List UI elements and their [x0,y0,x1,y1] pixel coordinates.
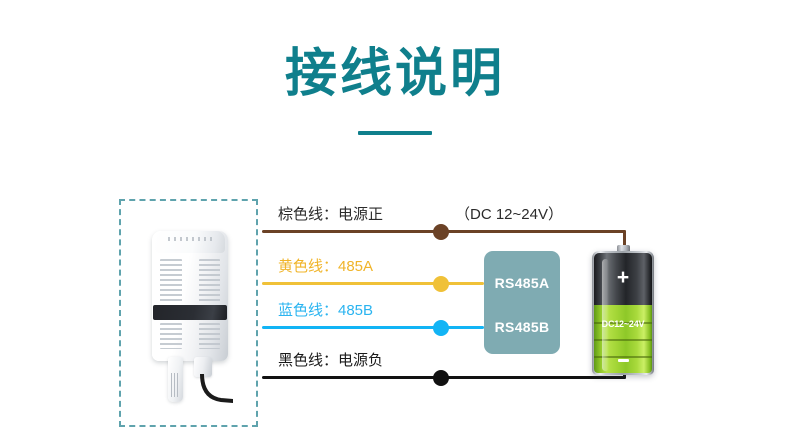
rs485-terminal-block: RS485A RS485B [484,251,560,354]
wire-line-yellow [262,282,484,285]
device-cable-icon [199,374,233,404]
device-probe-slots [171,373,180,397]
wire-label-yellow: 黄色线：485A [278,257,373,277]
wire-label-black: 黑色线：电源负 [278,351,383,371]
connector-dot-black [433,370,449,386]
device-vent-bottom-left [160,323,182,349]
wire-label-blue: 蓝色线：485B [278,301,373,321]
wiring-diagram-page: 接线说明 棕色线：电源正 （DC 12~24V） 黄色线：485A 蓝色线：48… [0,0,790,446]
battery-image: + DC12~24V [592,245,654,379]
device-vent-bottom-right [199,323,220,349]
title-divider [358,131,432,135]
device-top-cap [155,231,225,253]
device-sensor-band [153,305,227,320]
wire-label-brown: 棕色线：电源正 [278,205,383,225]
battery-minus-symbol [618,359,629,362]
connector-dot-brown [433,224,449,240]
page-title: 接线说明 [0,42,790,106]
rs485b-port-label: RS485B [484,319,560,335]
device-probe [168,357,183,402]
sensor-device-image [152,231,228,361]
device-perforation [168,237,212,241]
connector-dot-blue [433,320,449,336]
battery-plus-symbol: + [592,267,654,288]
device-vent-top-right [199,259,220,303]
device-vent-top-left [160,259,182,303]
wire-line-blue [262,326,484,329]
battery-voltage-label: DC12~24V [592,319,654,329]
rs485a-port-label: RS485A [484,275,560,291]
connector-dot-yellow [433,276,449,292]
voltage-note: （DC 12~24V） [455,205,563,225]
